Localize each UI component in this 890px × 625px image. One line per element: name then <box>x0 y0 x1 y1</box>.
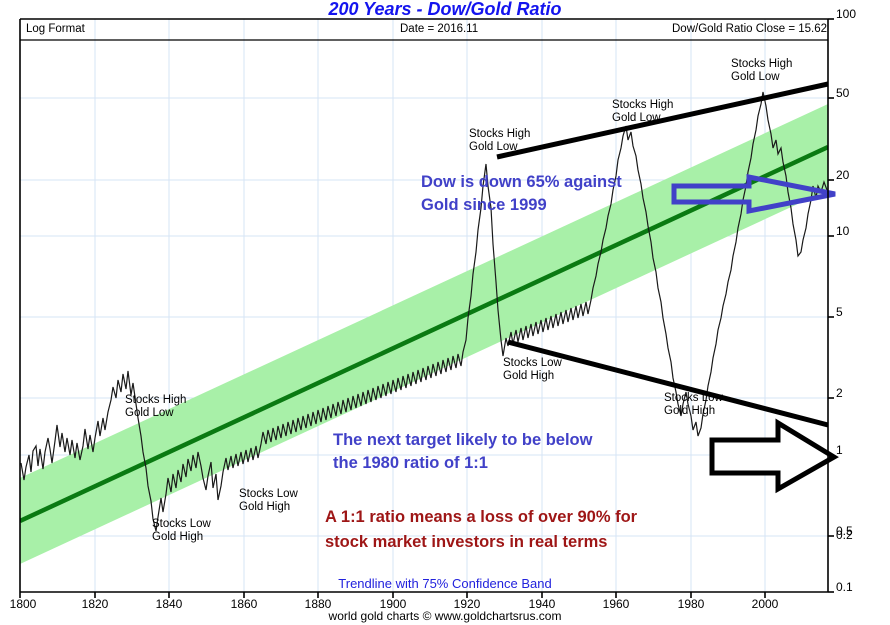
annotation-ratio-loss-line2: stock market investors in real terms <box>325 530 637 555</box>
y-tick-label-1: 1 <box>836 443 843 457</box>
peak-label-1929: Stocks High Gold Low <box>469 128 530 154</box>
log-format-label: Log Format <box>26 23 85 35</box>
trough-label-1843-line2: Gold High <box>152 531 211 544</box>
peak-label-1999: Stocks High Gold Low <box>731 58 792 84</box>
close-value-label: Dow/Gold Ratio Close = 15.62 <box>672 23 827 35</box>
credit-line: world gold charts © www.goldchartsrus.co… <box>0 609 890 623</box>
confidence-band-caption: Trendline with 75% Confidence Band <box>0 576 890 591</box>
annotation-ratio-loss: A 1:1 ratio means a loss of over 90% for… <box>325 505 637 555</box>
y-tick-label-100: 100 <box>836 7 856 21</box>
y-tick-label-10: 10 <box>836 224 849 238</box>
chart-root: 200 Years - Dow/Gold Ratio <box>0 0 890 625</box>
y-tick-label-50: 50 <box>836 86 849 100</box>
trough-label-1980: Stocks Low Gold High <box>664 392 723 418</box>
y-tick-marks <box>828 19 834 592</box>
y-tick-label-2: 2 <box>836 386 843 400</box>
peak-label-1966-line2: Gold Low <box>612 112 673 125</box>
y-tick-label-0.2-pos: 0.2 <box>836 528 853 542</box>
peak-label-1966: Stocks High Gold Low <box>612 99 673 125</box>
peak-label-1999-line1: Stocks High <box>731 58 792 71</box>
black-projection-arrow <box>712 423 834 489</box>
trough-label-1932: Stocks Low Gold High <box>503 357 562 383</box>
trough-label-1980-line2: Gold High <box>664 405 723 418</box>
trough-label-1932-line1: Stocks Low <box>503 357 562 370</box>
annotation-dow-down: Dow is down 65% against Gold since 1999 <box>421 171 622 217</box>
peak-label-1835-line1: Stocks High <box>125 394 186 407</box>
peak-label-1929-line2: Gold Low <box>469 141 530 154</box>
peak-label-1929-line1: Stocks High <box>469 128 530 141</box>
y-tick-label-5: 5 <box>836 305 843 319</box>
y-tick-label-20: 20 <box>836 168 849 182</box>
annotation-dow-down-line1: Dow is down 65% against <box>421 171 622 194</box>
peak-label-1835-line2: Gold Low <box>125 407 186 420</box>
trough-label-1860-line2: Gold High <box>239 501 298 514</box>
trough-label-1843: Stocks Low Gold High <box>152 518 211 544</box>
annotation-next-target-line2: the 1980 ratio of 1:1 <box>333 452 592 475</box>
peak-label-1966-line1: Stocks High <box>612 99 673 112</box>
trough-label-1932-line2: Gold High <box>503 370 562 383</box>
annotation-next-target-line1: The next target likely to be below <box>333 429 592 452</box>
trough-label-1980-line1: Stocks Low <box>664 392 723 405</box>
peak-label-1999-line2: Gold Low <box>731 71 792 84</box>
peak-label-1835: Stocks High Gold Low <box>125 394 186 420</box>
annotation-ratio-loss-line1: A 1:1 ratio means a loss of over 90% for <box>325 505 637 530</box>
annotation-dow-down-line2: Gold since 1999 <box>421 194 622 217</box>
annotation-next-target: The next target likely to be below the 1… <box>333 429 592 475</box>
trough-label-1860-line1: Stocks Low <box>239 488 298 501</box>
trough-label-1860: Stocks Low Gold High <box>239 488 298 514</box>
trough-label-1843-line1: Stocks Low <box>152 518 211 531</box>
date-label: Date = 2016.11 <box>400 23 478 35</box>
